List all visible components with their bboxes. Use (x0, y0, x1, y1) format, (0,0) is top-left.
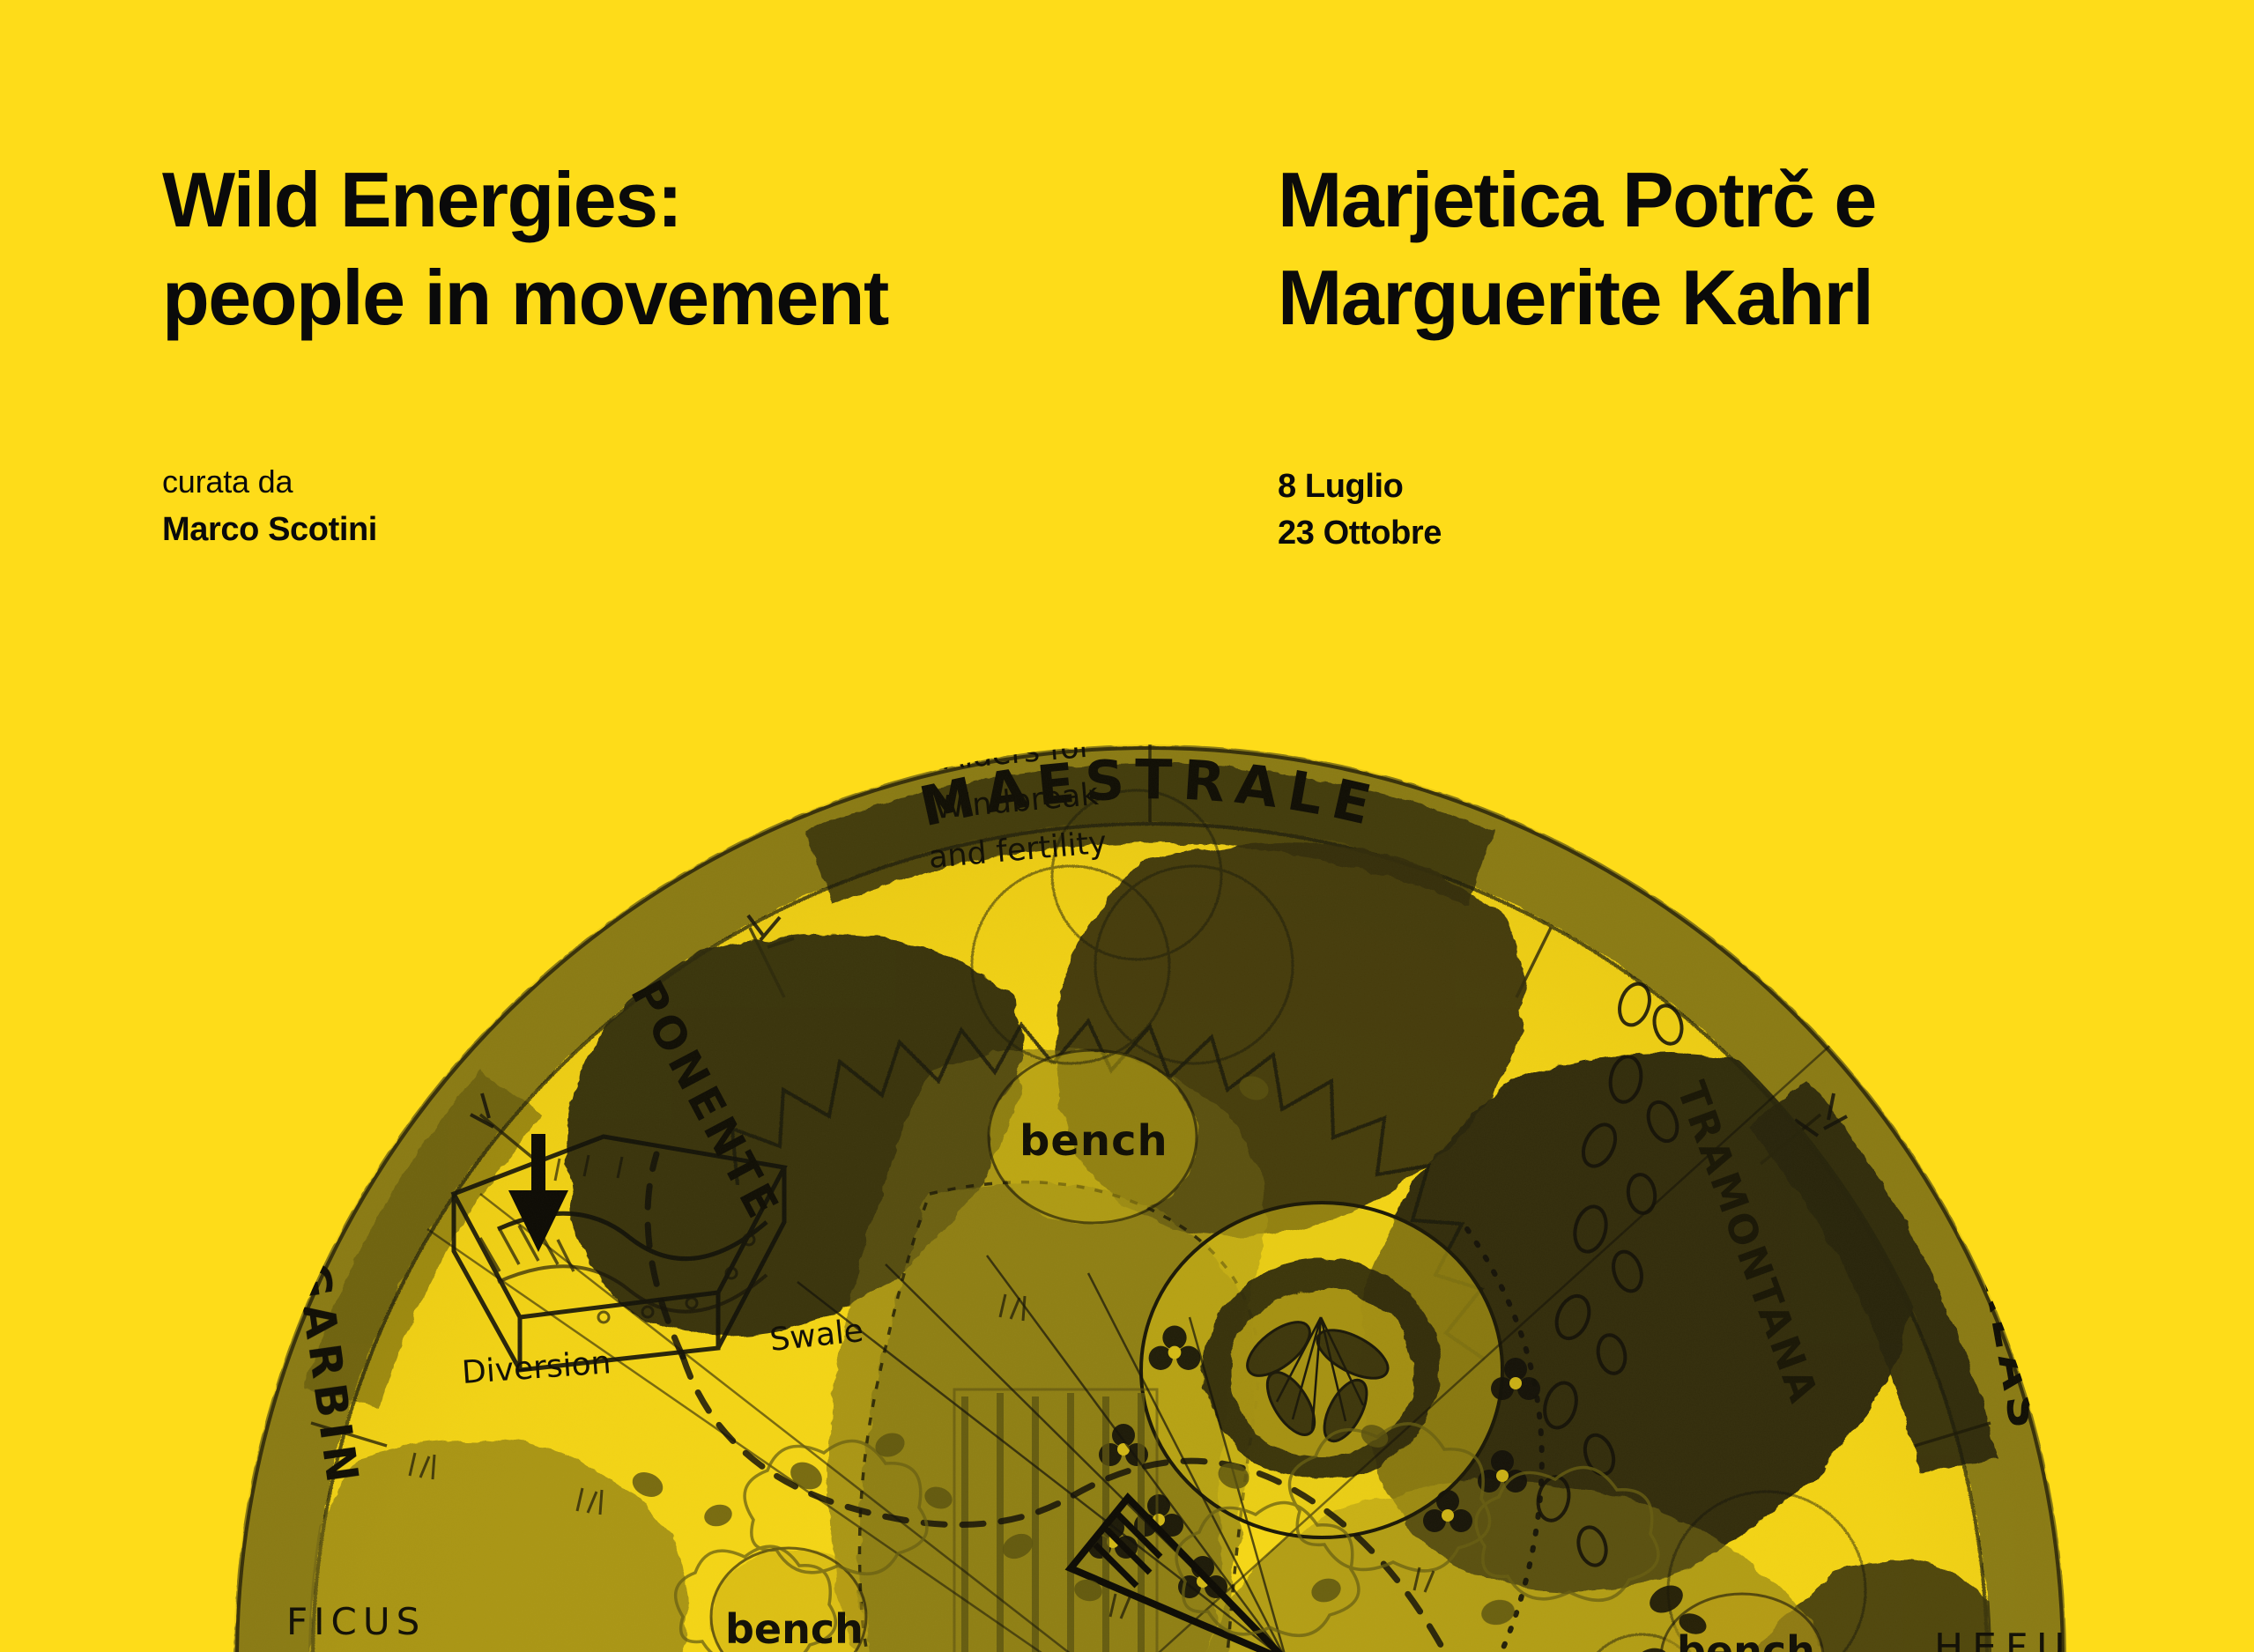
title-line-2: people in movement (162, 255, 1202, 342)
artist-names: Marjetica Potrč e Marguerite Kahrl (1278, 157, 2159, 341)
paper-grain (234, 745, 2066, 1652)
artist-line-2: Marguerite Kahrl (1278, 255, 2159, 342)
date-start: 8 Luglio (1278, 465, 1442, 508)
curator-name: Marco Scotini (162, 508, 377, 552)
artist-line-1: Marjetica Potrč e (1278, 157, 2159, 244)
garden-plan-svg: MAESTRALE PONENTE GARBIN TRAMONTANA BORE… (189, 700, 2110, 1652)
curator-label: curata da (162, 462, 377, 503)
drawing-disc: MAESTRALE PONENTE GARBIN TRAMONTANA BORE… (234, 729, 2073, 1652)
title-line-1: Wild Energies: (162, 157, 1202, 244)
dates-block: 8 Luglio 23 Ottobre (1278, 462, 1442, 556)
poster-canvas: Wild Energies: people in movement Marjet… (0, 0, 2254, 1652)
exhibition-title: Wild Energies: people in movement (162, 157, 1202, 341)
curator-block: curata da Marco Scotini (162, 462, 377, 552)
garden-plan-artwork: MAESTRALE PONENTE GARBIN TRAMONTANA BORE… (189, 700, 2110, 1652)
date-end: 23 Ottobre (1278, 512, 1442, 555)
